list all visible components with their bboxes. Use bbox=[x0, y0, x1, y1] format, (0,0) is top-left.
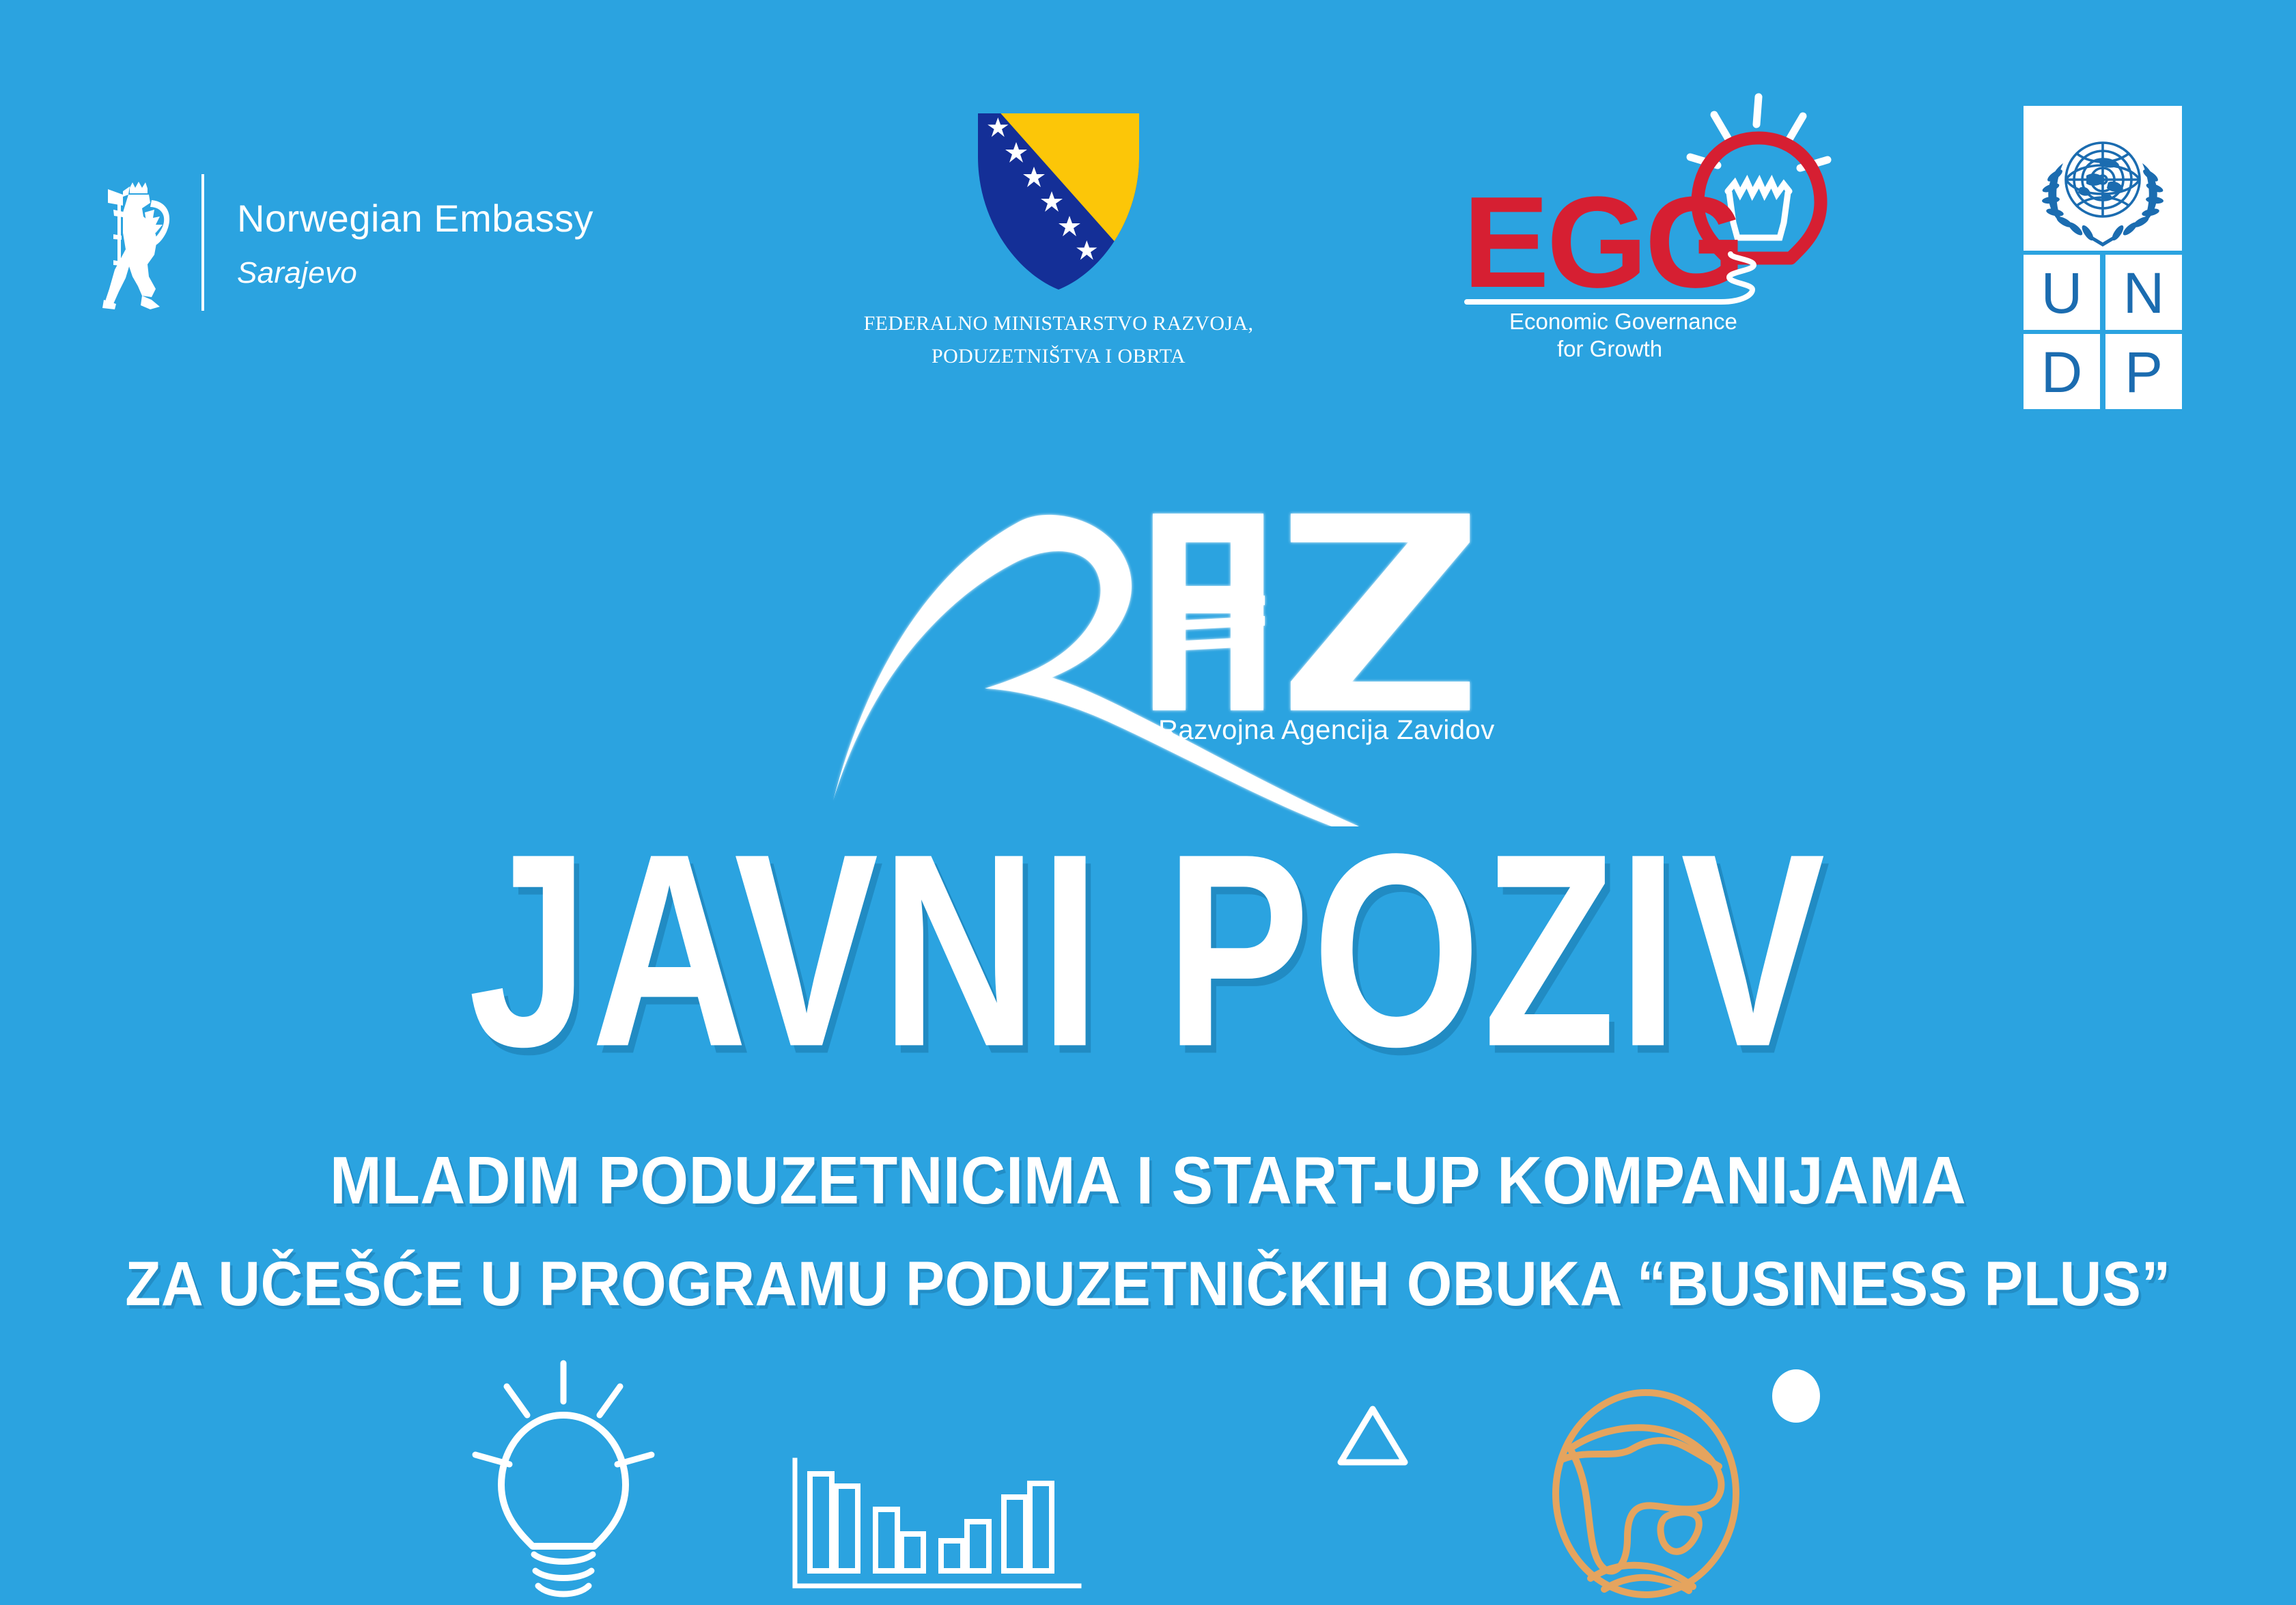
lightbulb-icon bbox=[464, 1359, 662, 1598]
subtitle-line-1: MLADIM PODUZETNICIMA I START-UP KOMPANIJ… bbox=[81, 1142, 2216, 1219]
page-title: JAVNI POZIV bbox=[46, 813, 2250, 1088]
egg-tagline-line1: Economic Governance bbox=[1509, 309, 1737, 334]
norway-title: Norwegian Embassy bbox=[237, 199, 593, 239]
ministry-logo: FEDERALNO MINISTARSTVO RAZVOJA, PODUZETN… bbox=[785, 109, 1332, 371]
ministry-name-line-2: PODUZETNIŠTVA I OBRTA bbox=[932, 341, 1186, 372]
partner-logo-strip: Norwegian Embassy Sarajevo bbox=[0, 0, 2296, 437]
undp-letter-u: U bbox=[2041, 261, 2083, 325]
egg-acronym: EGG bbox=[1463, 170, 1743, 315]
undp-letter-d: D bbox=[2041, 340, 2083, 404]
bar-chart-icon bbox=[779, 1455, 1093, 1598]
norwegian-lion-crest-icon bbox=[102, 174, 174, 311]
decorative-icon-row bbox=[0, 1352, 2296, 1605]
poster-canvas: Norwegian Embassy Sarajevo bbox=[0, 0, 2296, 1605]
raz-full-name: Razvojna Agencija Zavidovici bbox=[1158, 715, 1496, 745]
subtitle-line-2: ZA UČEŠĆE U PROGRAMU PODUZETNIČKIH OBUKA… bbox=[81, 1248, 2216, 1320]
ministry-name-line-1: FEDERALNO MINISTARSTVO RAZVOJA, bbox=[864, 309, 1254, 339]
egg-logo: EGG Economic Governance for Growth bbox=[1448, 89, 1844, 362]
circle-dot-icon bbox=[1772, 1369, 1820, 1423]
norwegian-embassy-logo: Norwegian Embassy Sarajevo bbox=[102, 174, 593, 311]
globe-icon bbox=[1547, 1383, 1745, 1602]
norway-divider bbox=[201, 174, 204, 311]
headline-block: JAVNI POZIV bbox=[0, 813, 2296, 1038]
egg-tagline-line2: for Growth bbox=[1557, 336, 1662, 361]
undp-letter-p: P bbox=[2125, 340, 2163, 404]
triangle-icon bbox=[1335, 1404, 1410, 1468]
undp-letter-n: N bbox=[2123, 261, 2165, 325]
norway-city: Sarajevo bbox=[237, 256, 593, 290]
norway-text-block: Norwegian Embassy Sarajevo bbox=[237, 174, 593, 311]
bosnia-coat-of-arms-icon bbox=[956, 109, 1161, 294]
undp-logo: U N D P bbox=[2024, 106, 2182, 413]
raz-agency-logo: Razvojna Agencija Zavidovici bbox=[813, 485, 1496, 826]
